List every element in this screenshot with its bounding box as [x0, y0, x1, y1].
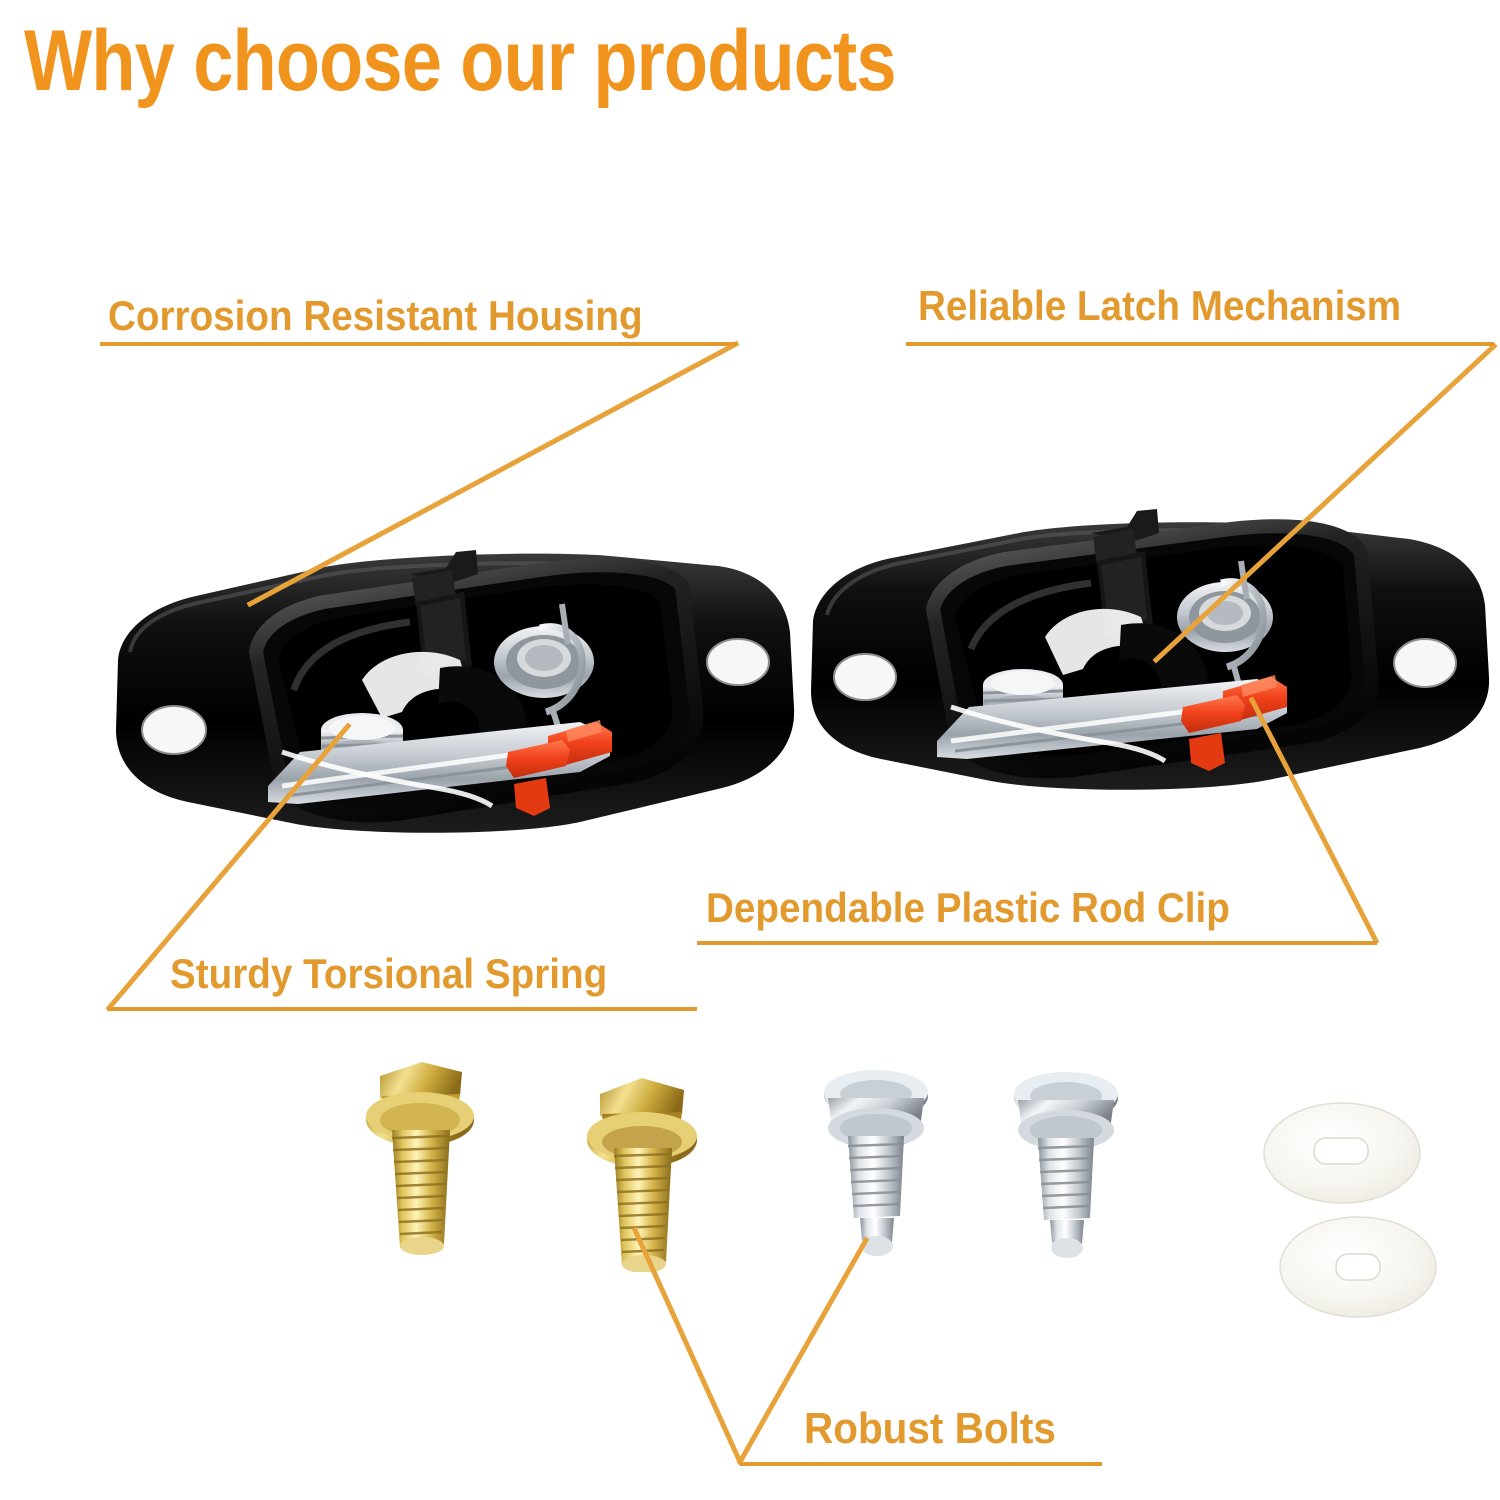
steel-striker-bolt: [1006, 1072, 1126, 1262]
callout-label-robust-bolts: Robust Bolts: [804, 1404, 1056, 1454]
door-latch-right: [805, 505, 1495, 805]
latch-left-illustration: [110, 540, 800, 840]
callout-underline-corrosion-resistant-housing: [100, 342, 736, 346]
brass-flange-bolt: [578, 1072, 708, 1272]
callout-underline-dependable-plastic-rod-clip: [697, 941, 1377, 945]
latch-right-illustration: [805, 505, 1495, 805]
infographic-page: Why choose our products: [0, 0, 1500, 1500]
brass-flange-bolt: [358, 1058, 488, 1258]
callout-label-corrosion-resistant-housing: Corrosion Resistant Housing: [108, 292, 643, 340]
callout-underline-sturdy-torsional-spring: [107, 1007, 697, 1011]
callout-label-sturdy-torsional-spring: Sturdy Torsional Spring: [170, 950, 607, 998]
page-title: Why choose our products: [24, 18, 896, 104]
callout-underline-reliable-latch-mechanism: [906, 342, 1494, 346]
callout-label-reliable-latch-mechanism: Reliable Latch Mechanism: [918, 282, 1401, 330]
callout-label-dependable-plastic-rod-clip: Dependable Plastic Rod Clip: [706, 884, 1230, 932]
nylon-washer: [1278, 1212, 1438, 1322]
door-latch-left: [110, 540, 800, 840]
callout-underline-robust-bolts: [740, 1462, 1102, 1466]
steel-striker-bolt: [816, 1070, 936, 1260]
nylon-washer: [1262, 1098, 1422, 1208]
